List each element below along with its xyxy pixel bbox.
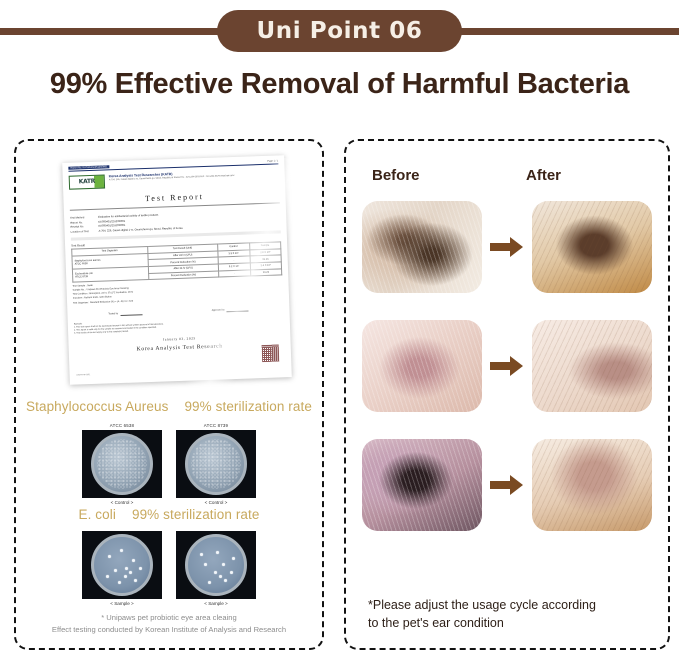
note-value: Nutrient broth, 1/20 dilution	[84, 297, 112, 300]
petri-dish-control	[176, 430, 256, 498]
note-key: Test Condition	[73, 294, 88, 297]
lab-evidence-panel: Report No. KATR0401/2512/00001 Page 1 / …	[14, 139, 324, 650]
test-report-certificate: Report No. KATR0401/2512/00001 Page 1 / …	[62, 155, 292, 385]
usage-note-line-2: to the pet's ear condition	[368, 614, 648, 632]
certificate-page-number: Page 1 / 1	[267, 159, 278, 163]
footnote-line-1: * Unipaws pet probiotic eye area cleaing	[16, 612, 322, 624]
lab-footnote: * Unipaws pet probiotic eye area cleaing…	[16, 612, 322, 636]
dish-caption: < Control >	[82, 500, 162, 505]
certificate-notes: Test Sample : Swab Sample No. : Unipaws …	[72, 279, 283, 306]
test-result-table: Test Organism Test Result (Unit) Control…	[71, 242, 282, 283]
before-label: Before	[372, 167, 420, 184]
sample-dish-row: < Sample > < Sample >	[16, 531, 322, 606]
arrow-icon	[482, 236, 532, 258]
banner-pill: Uni Point 06	[217, 10, 462, 52]
dish-strain-label: ATCC 6538	[82, 423, 162, 428]
note-key: Test Organism	[73, 302, 88, 305]
note-value: Swab	[87, 285, 93, 287]
organism-strain: ATCC 6538	[75, 262, 88, 265]
note-value: Absorption, 24 hr, 37±1℃ Incubation, 18 …	[89, 292, 133, 296]
before-after-panel: Before After *Please adjust the usage cy…	[344, 139, 670, 650]
usage-note-line-1: *Please adjust the usage cycle according	[368, 596, 648, 614]
certificate-report-code: Report No. KATR0401/2512/00001	[68, 165, 109, 170]
certificate-remarks: Remarks 1. This test report shall not be…	[74, 316, 284, 336]
ear-photo-after	[532, 201, 652, 293]
certificate-stage: Report No. KATR0401/2512/00001 Page 1 / …	[24, 155, 314, 405]
banner-label: Uni Point 06	[256, 18, 422, 44]
katr-logo: KATR	[69, 175, 105, 190]
certificate-title: Test Report	[69, 190, 279, 211]
caption-rate: 99% sterilization rate	[132, 507, 260, 522]
caption-organism: Staphylococcus Aureus	[26, 399, 168, 414]
after-label: After	[526, 167, 561, 184]
dish-caption: < Control >	[176, 500, 256, 505]
signature-row: Tested by Approved by	[73, 304, 283, 317]
dish-cell: ATCC 8739 < Control >	[176, 423, 256, 505]
dish-cell: ATCC 6538 < Control >	[82, 423, 162, 505]
dish-cell: < Sample >	[176, 531, 256, 606]
cell-sample: 99.25	[250, 268, 282, 276]
petri-dish-sample	[82, 531, 162, 599]
dish-cell: < Sample >	[82, 531, 162, 606]
caption-rate: 99% sterilization rate	[184, 399, 312, 414]
note-key: Test Sample	[72, 285, 85, 287]
header-banner: Uni Point 06	[0, 10, 679, 52]
page-title: 99% Effective Removal of Harmful Bacteri…	[0, 68, 679, 101]
ear-photo-before	[362, 201, 482, 293]
certificate-header: KATR Korea Analysis Test Researcher (KAT…	[69, 169, 279, 190]
ear-photo-before	[362, 320, 482, 412]
footnote-line-2: Effect testing conducted by Korean Insti…	[16, 624, 322, 636]
cell-control: -	[218, 270, 250, 278]
note-key: Inoculum	[73, 298, 82, 300]
caption-ecoli: E. coli99% sterilization rate	[16, 507, 322, 522]
arrow-icon	[482, 355, 532, 377]
before-after-row	[362, 437, 652, 533]
ear-photo-before	[362, 439, 482, 531]
petri-dish-sample	[176, 531, 256, 599]
usage-note: *Please adjust the usage cycle according…	[368, 596, 648, 632]
ear-photo-after	[532, 439, 652, 531]
caption-organism: E. coli	[79, 507, 116, 522]
arrow-icon	[482, 474, 532, 496]
dish-caption: < Sample >	[82, 601, 162, 606]
cell-result: Percent Reduction (%)	[148, 271, 218, 280]
qr-code-icon	[262, 344, 280, 362]
note-value: Standard Reduction (%) = (A - B) / A × 1…	[90, 300, 133, 304]
note-key: Sample No.	[73, 290, 85, 292]
petri-dish-control	[82, 430, 162, 498]
dish-caption: < Sample >	[176, 601, 256, 606]
dish-strain-label: ATCC 8739	[176, 423, 256, 428]
caption-staphylococcus: Staphylococcus Aureus99% sterilization r…	[16, 399, 322, 414]
cell-organism: Escherichia coli ATCC 8739	[72, 267, 148, 283]
signature-line	[120, 309, 142, 316]
signature-line	[226, 305, 248, 312]
control-dish-row: ATCC 6538 < Control > ATCC 8739 < Contro…	[16, 423, 322, 505]
before-after-row	[362, 318, 652, 414]
signature-label-tested: Tested by	[108, 313, 118, 316]
before-after-row	[362, 199, 652, 295]
certificate-footer-code: KATR-FR-0001	[77, 374, 91, 377]
meta-key: Receipt No.	[70, 225, 96, 229]
ear-photo-after	[532, 320, 652, 412]
signature-label-approved: Approved by	[212, 309, 225, 313]
organism-strain: ATCC 8739	[75, 275, 88, 278]
meta-key: Location of Test	[71, 230, 97, 234]
meta-key: Test Method	[70, 216, 96, 220]
